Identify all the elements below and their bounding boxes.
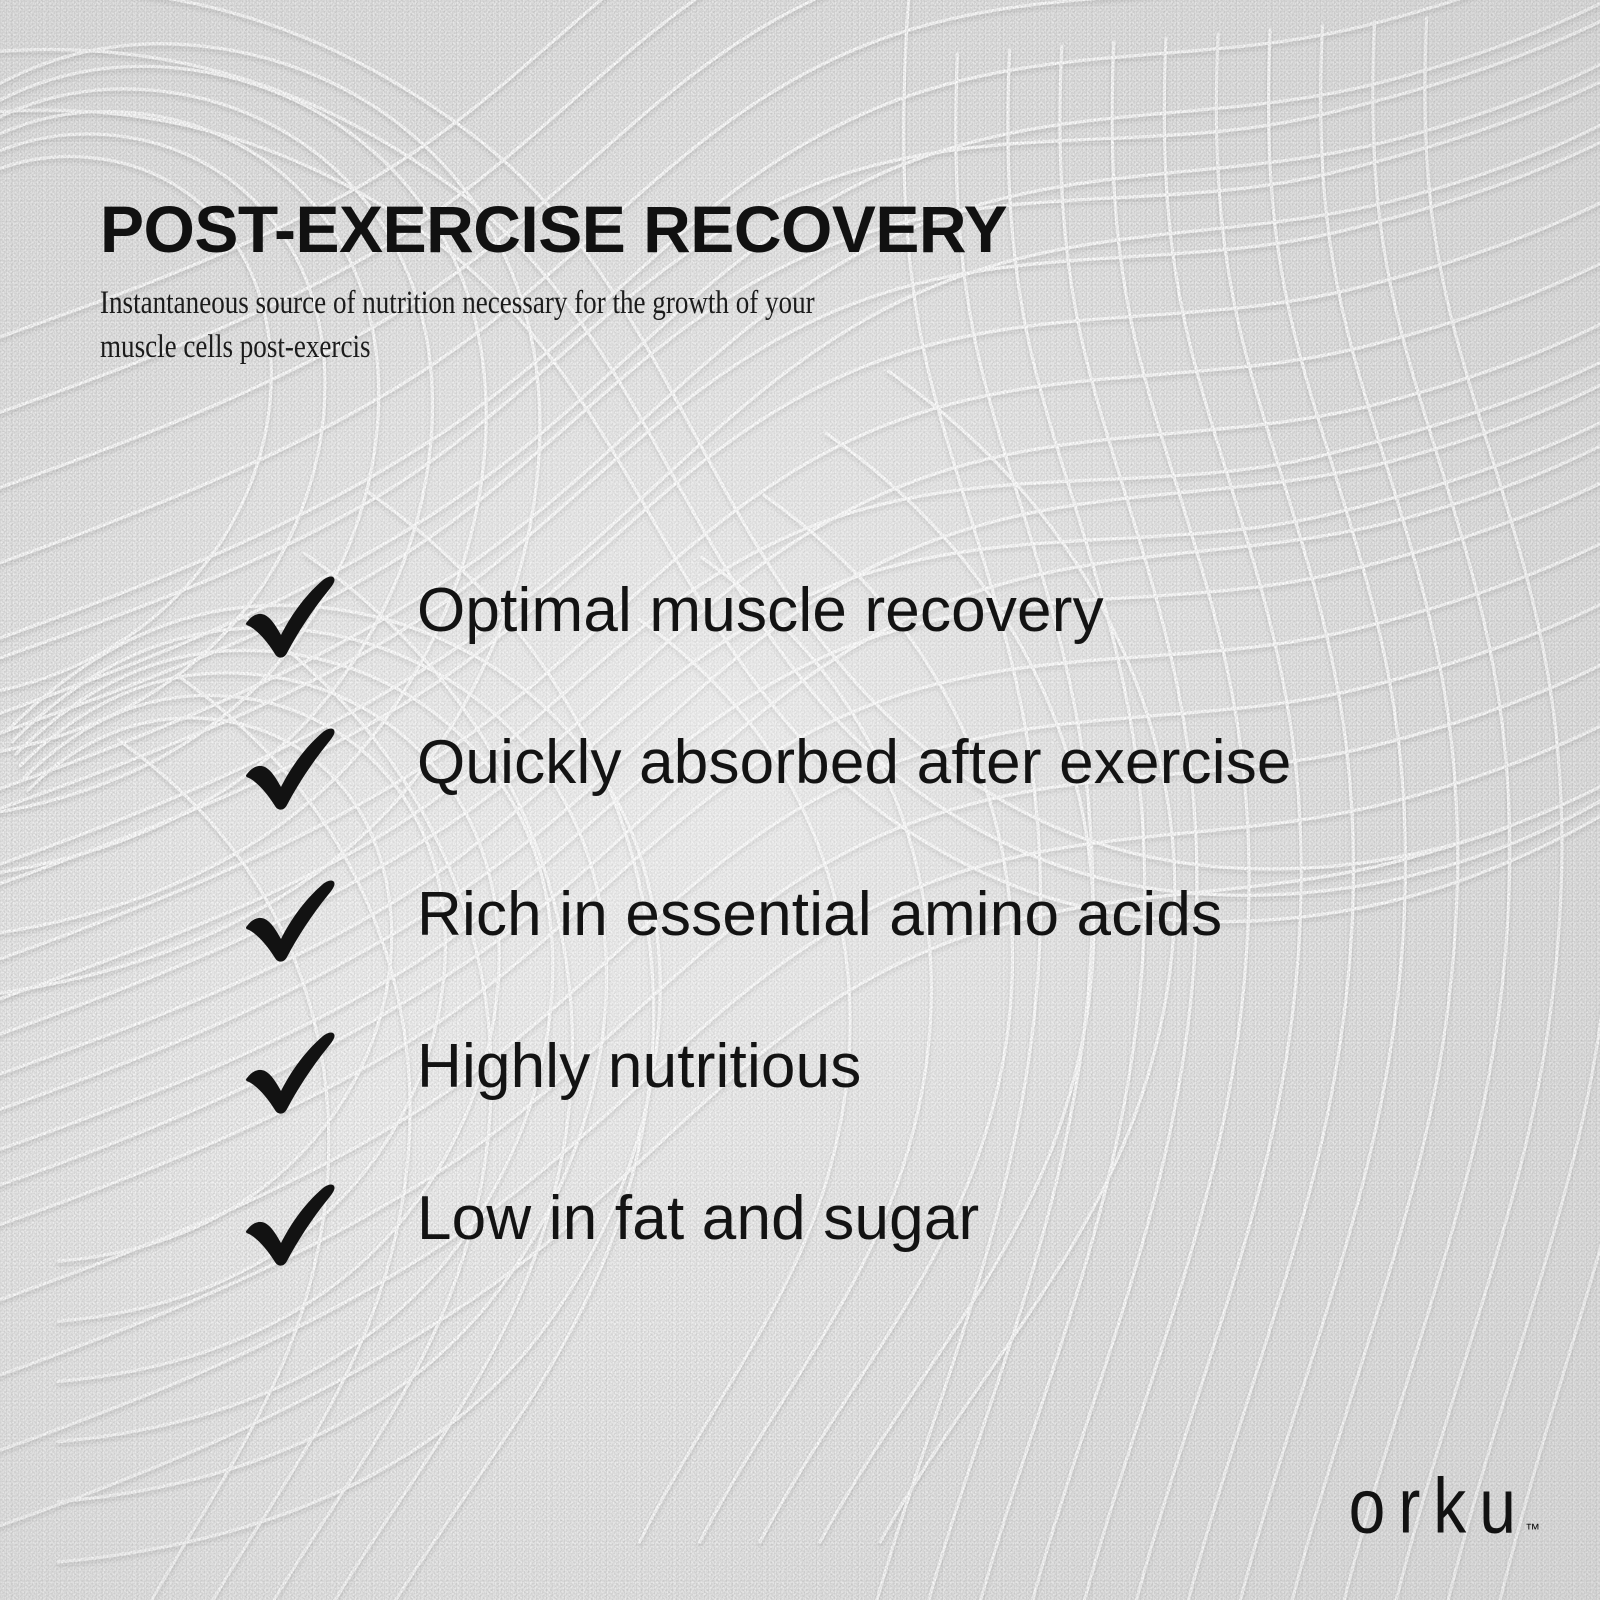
list-item-label: Rich in essential amino acids [417,874,1222,952]
checkmark-icon [243,570,339,660]
benefits-list: Optimal muscle recovery Quickly absorbed… [243,570,1443,1330]
list-item: Optimal muscle recovery [243,570,1443,722]
list-item-label: Optimal muscle recovery [417,570,1104,648]
checkmark-icon [243,1026,339,1116]
list-item-label: Low in fat and sugar [417,1178,979,1256]
list-item: Rich in essential amino acids [243,874,1443,1026]
list-item: Quickly absorbed after exercise [243,722,1443,874]
page-subtitle: Instantaneous source of nutrition necess… [100,282,1035,369]
list-item: Low in fat and sugar [243,1178,1443,1330]
poster-canvas: POST-EXERCISE RECOVERY Instantaneous sou… [0,0,1600,1600]
page-title: POST-EXERCISE RECOVERY [100,196,1007,262]
brand-logo: orku ™ [1349,1481,1540,1542]
list-item: Highly nutritious [243,1026,1443,1178]
brand-name: orku [1349,1470,1529,1542]
checkmark-icon [243,874,339,964]
checkmark-icon [243,722,339,812]
list-item-label: Quickly absorbed after exercise [417,722,1292,800]
poster-content: POST-EXERCISE RECOVERY Instantaneous sou… [0,0,1600,1600]
list-item-label: Highly nutritious [417,1026,861,1104]
checkmark-icon [243,1178,339,1268]
